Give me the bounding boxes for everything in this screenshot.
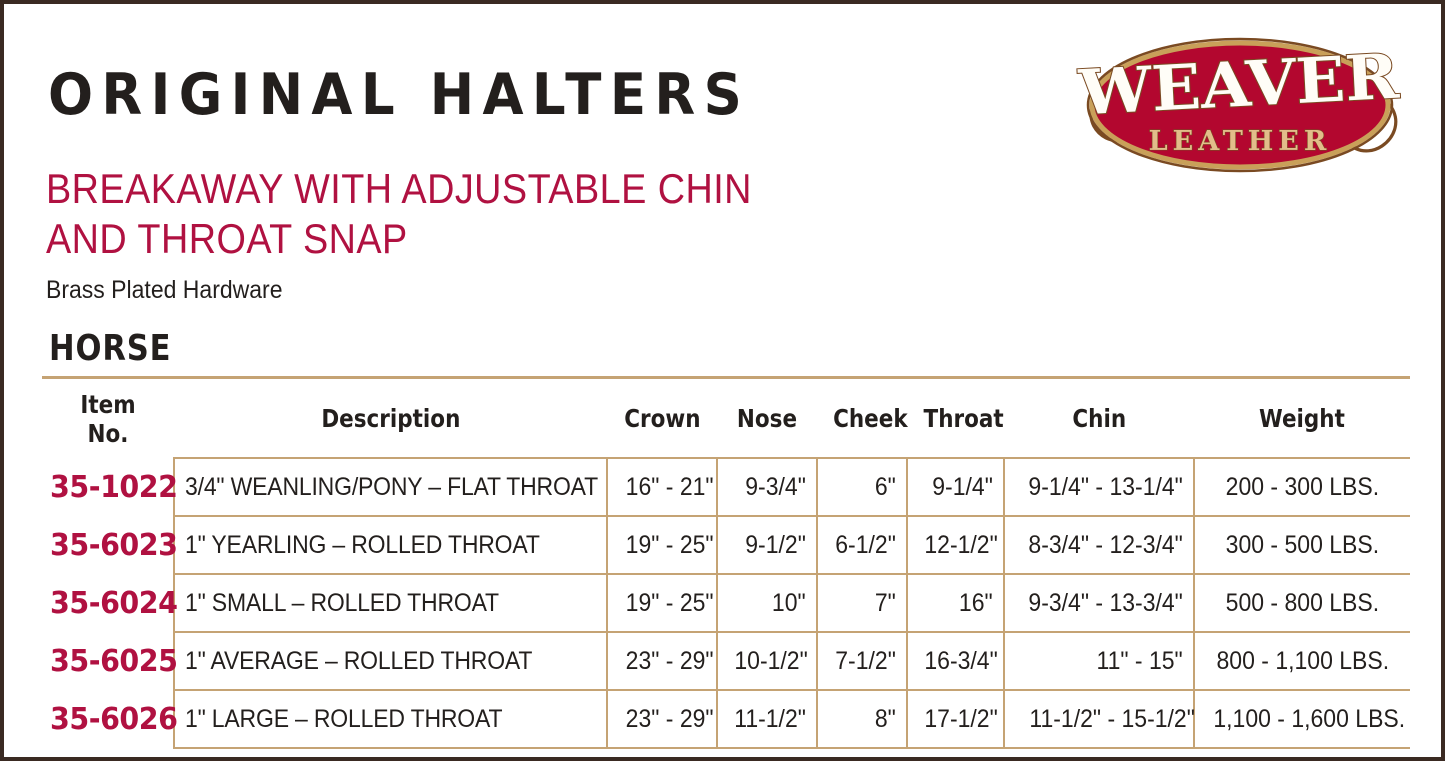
cell-throat-text: 16-3/4"	[924, 647, 997, 676]
cell-throat-text: 9-1/4"	[932, 473, 993, 502]
cell-chin: 8-3/4" - 12-3/4"	[1004, 516, 1194, 574]
col-header-cheek-label: Cheek	[833, 404, 908, 433]
cell-description: 3/4" WEANLING/PONY – FLAT THROAT	[174, 458, 607, 516]
cell-cheek: 7"	[817, 574, 907, 632]
cell-crown: 16" - 21"	[607, 458, 717, 516]
product-subtitle: BREAKAWAY WITH ADJUSTABLE CHIN AND THROA…	[46, 164, 784, 264]
cell-chin: 9-1/4" - 13-1/4"	[1004, 458, 1194, 516]
cell-nose-text: 9-3/4"	[745, 473, 806, 502]
cell-description: 1" SMALL – ROLLED THROAT	[174, 574, 607, 632]
cell-cheek: 8"	[817, 690, 907, 748]
cell-item-no: 35-1022	[42, 458, 174, 516]
table-row: 35-6023 1" YEARLING – ROLLED THROAT 19" …	[42, 516, 1410, 574]
cell-throat-text: 17-1/2"	[924, 705, 997, 734]
cell-item-no-text: 35-6024	[50, 586, 177, 621]
cell-cheek-text: 7-1/2"	[835, 647, 896, 676]
cell-crown: 23" - 29"	[607, 690, 717, 748]
cell-description: 1" YEARLING – ROLLED THROAT	[174, 516, 607, 574]
cell-chin-text: 9-3/4" - 13-3/4"	[1029, 589, 1183, 618]
col-header-nose: Nose	[717, 386, 817, 458]
cell-chin-text: 11-1/2" - 15-1/2"	[1029, 705, 1194, 734]
cell-item-no: 35-6023	[42, 516, 174, 574]
cell-weight: 1,100 - 1,600 LBS.	[1194, 690, 1410, 748]
col-header-crown-label: Crown	[624, 404, 700, 433]
cell-throat: 16"	[907, 574, 1004, 632]
table-body: 35-1022 3/4" WEANLING/PONY – FLAT THROAT…	[42, 458, 1410, 748]
cell-weight-text: 1,100 - 1,600 LBS.	[1213, 705, 1405, 734]
cell-weight: 500 - 800 LBS.	[1194, 574, 1410, 632]
cell-crown-text: 19" - 25"	[626, 531, 714, 560]
table-row: 35-6026 1" LARGE – ROLLED THROAT 23" - 2…	[42, 690, 1410, 748]
cell-cheek-text: 6-1/2"	[835, 531, 896, 560]
cell-crown: 23" - 29"	[607, 632, 717, 690]
spec-table-wrapper: Item No. Description Crown Nose Cheek Th…	[42, 386, 1410, 749]
table-header: Item No. Description Crown Nose Cheek Th…	[42, 386, 1410, 458]
cell-weight-text: 300 - 500 LBS.	[1226, 531, 1379, 560]
col-header-item-no: Item No.	[42, 386, 174, 458]
header-section: ORIGINAL HALTERS BREAKAWAY WITH ADJUSTAB…	[4, 4, 1441, 374]
col-header-chin-label: Chin	[1072, 404, 1126, 433]
cell-nose-text: 11-1/2"	[734, 705, 806, 734]
cell-nose: 11-1/2"	[717, 690, 817, 748]
cell-cheek-text: 8"	[875, 705, 896, 734]
cell-crown-text: 23" - 29"	[626, 647, 714, 676]
hardware-note: Brass Plated Hardware	[46, 276, 282, 305]
cell-cheek: 7-1/2"	[817, 632, 907, 690]
cell-weight: 300 - 500 LBS.	[1194, 516, 1410, 574]
col-header-chin: Chin	[1004, 386, 1194, 458]
table-row: 35-6024 1" SMALL – ROLLED THROAT 19" - 2…	[42, 574, 1410, 632]
spec-table: Item No. Description Crown Nose Cheek Th…	[42, 386, 1410, 749]
cell-cheek: 6"	[817, 458, 907, 516]
cell-chin-text: 8-3/4" - 12-3/4"	[1029, 531, 1183, 560]
cell-nose: 10-1/2"	[717, 632, 817, 690]
col-header-weight: Weight	[1194, 386, 1410, 458]
cell-weight-text: 200 - 300 LBS.	[1226, 473, 1379, 502]
cell-throat: 17-1/2"	[907, 690, 1004, 748]
cell-weight: 200 - 300 LBS.	[1194, 458, 1410, 516]
cell-throat-text: 16"	[959, 589, 993, 618]
cell-description-text: 1" YEARLING – ROLLED THROAT	[185, 531, 540, 560]
table-row: 35-1022 3/4" WEANLING/PONY – FLAT THROAT…	[42, 458, 1410, 516]
cell-cheek: 6-1/2"	[817, 516, 907, 574]
spec-sheet-page: ORIGINAL HALTERS BREAKAWAY WITH ADJUSTAB…	[0, 0, 1445, 761]
cell-crown: 19" - 25"	[607, 516, 717, 574]
cell-item-no-text: 35-6025	[50, 644, 177, 679]
cell-item-no: 35-6025	[42, 632, 174, 690]
cell-chin-text: 9-1/4" - 13-1/4"	[1029, 473, 1183, 502]
cell-throat: 12-1/2"	[907, 516, 1004, 574]
col-header-weight-label: Weight	[1259, 404, 1345, 433]
cell-item-no: 35-6026	[42, 690, 174, 748]
cell-item-no-text: 35-6026	[50, 702, 177, 737]
cell-item-no-text: 35-6023	[50, 528, 177, 563]
logo-svg: WEAVER LEATHER	[1070, 28, 1410, 176]
col-header-nose-label: Nose	[737, 404, 797, 433]
cell-description-text: 1" LARGE – ROLLED THROAT	[185, 705, 502, 734]
cell-chin-text: 11" - 15"	[1097, 647, 1183, 676]
cell-throat: 9-1/4"	[907, 458, 1004, 516]
cell-description-text: 1" AVERAGE – ROLLED THROAT	[185, 647, 532, 676]
cell-nose-text: 10-1/2"	[734, 647, 807, 676]
cell-cheek-text: 7"	[875, 589, 896, 618]
cell-item-no: 35-6024	[42, 574, 174, 632]
page-title: ORIGINAL HALTERS	[48, 64, 750, 126]
col-header-description-label: Description	[321, 404, 460, 433]
table-header-row: Item No. Description Crown Nose Cheek Th…	[42, 386, 1410, 458]
cell-nose: 9-1/2"	[717, 516, 817, 574]
cell-nose: 9-3/4"	[717, 458, 817, 516]
cell-chin: 9-3/4" - 13-3/4"	[1004, 574, 1194, 632]
cell-description: 1" LARGE – ROLLED THROAT	[174, 690, 607, 748]
logo-tagline: LEATHER	[1149, 126, 1332, 157]
table-row: 35-6025 1" AVERAGE – ROLLED THROAT 23" -…	[42, 632, 1410, 690]
col-header-throat-label: Throat	[924, 404, 1004, 433]
cell-description: 1" AVERAGE – ROLLED THROAT	[174, 632, 607, 690]
col-header-description: Description	[174, 386, 607, 458]
category-divider	[42, 376, 1410, 379]
col-header-throat: Throat	[907, 386, 1004, 458]
cell-description-text: 1" SMALL – ROLLED THROAT	[185, 589, 499, 618]
cell-nose-text: 9-1/2"	[745, 531, 806, 560]
cell-chin: 11" - 15"	[1004, 632, 1194, 690]
cell-chin: 11-1/2" - 15-1/2"	[1004, 690, 1194, 748]
cell-throat-text: 12-1/2"	[924, 531, 997, 560]
weaver-leather-logo: WEAVER LEATHER	[1070, 28, 1410, 176]
cell-crown-text: 16" - 21"	[626, 473, 714, 502]
cell-weight: 800 - 1,100 LBS.	[1194, 632, 1410, 690]
cell-crown-text: 23" - 29"	[626, 705, 714, 734]
cell-weight-text: 800 - 1,100 LBS.	[1216, 647, 1389, 676]
cell-description-text: 3/4" WEANLING/PONY – FLAT THROAT	[185, 473, 598, 502]
col-header-crown: Crown	[607, 386, 717, 458]
cell-nose: 10"	[717, 574, 817, 632]
cell-throat: 16-3/4"	[907, 632, 1004, 690]
cell-crown: 19" - 25"	[607, 574, 717, 632]
cell-cheek-text: 6"	[875, 473, 896, 502]
col-header-cheek: Cheek	[817, 386, 907, 458]
cell-item-no-text: 35-1022	[50, 470, 177, 505]
col-header-item-no-label: Item No.	[60, 390, 156, 448]
category-heading: HORSE	[49, 328, 171, 369]
cell-crown-text: 19" - 25"	[626, 589, 714, 618]
cell-weight-text: 500 - 800 LBS.	[1226, 589, 1379, 618]
cell-nose-text: 10"	[772, 589, 806, 618]
